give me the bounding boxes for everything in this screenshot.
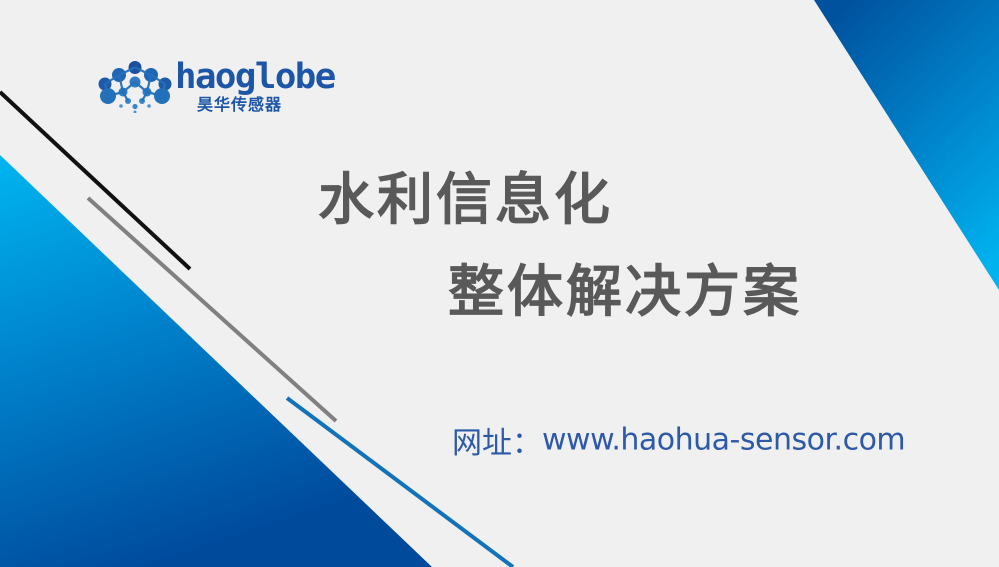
- company-logo[interactable]: haoglobe 昊华传感器: [97, 58, 327, 118]
- presentation-slide: haoglobe 昊华传感器 水利信息化 整体解决方案 网址：www.haohu…: [0, 0, 999, 567]
- page-title-line-1: 水利信息化: [318, 170, 613, 232]
- logo-text: haoglobe 昊华传感器: [175, 58, 325, 116]
- website-label: 网址：: [452, 426, 542, 461]
- page-title-line-2: 整体解决方案: [448, 262, 802, 324]
- logo-subtitle: 昊华传感器: [197, 96, 282, 114]
- website-url[interactable]: www.haohua-sensor.com: [542, 423, 905, 458]
- haoglobe-molecule-icon: [97, 61, 173, 113]
- logo-wordmark: haoglobe: [175, 58, 335, 96]
- website-line: 网址：www.haohua-sensor.com: [452, 418, 905, 462]
